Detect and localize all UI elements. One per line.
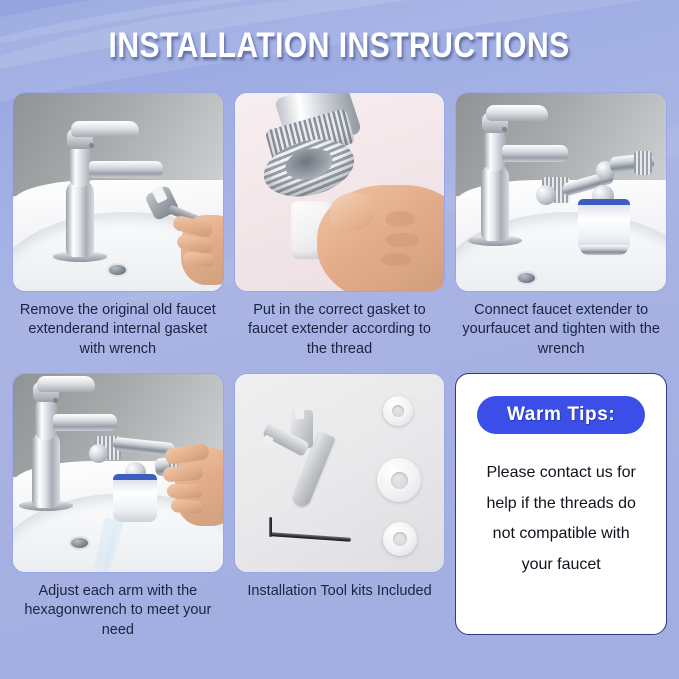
tool-kit-photo — [234, 373, 446, 573]
step-caption-2: Put in the correct gasket to faucet exte… — [234, 301, 446, 363]
title-container: INSTALLATION INSTRUCTIONS — [0, 0, 679, 92]
tips-line-4: your faucet — [486, 550, 635, 581]
infographic-page: INSTALLATION INSTRUCTIONS — [0, 0, 679, 679]
tips-line-3: not compatible with — [486, 519, 635, 550]
step-card-3: Connect faucet extender to yourfaucet an… — [455, 92, 667, 363]
adjusting-arm-photo — [12, 373, 224, 573]
faucet-with-wrench-photo — [12, 92, 224, 292]
warm-tips-badge: Warm Tips: — [477, 396, 645, 434]
hex-key-shape — [263, 514, 351, 544]
warm-tips-text: Please contact us for help if the thread… — [486, 458, 635, 581]
step-card-5: Installation Tool kits Included — [234, 373, 446, 644]
y-wrench-shape — [261, 402, 351, 494]
gasket-and-thread-photo — [234, 92, 446, 292]
step-caption-1: Remove the original old faucet extendera… — [12, 301, 224, 363]
tips-line-1: Please contact us for — [486, 458, 635, 489]
step-caption-3: Connect faucet extender to yourfaucet an… — [455, 301, 667, 363]
step-caption-4: Adjust each arm with the hexagonwrench t… — [12, 582, 224, 644]
step-card-2: Put in the correct gasket to faucet exte… — [234, 92, 446, 363]
warm-tips-card: Warm Tips: Please contact us for help if… — [455, 373, 667, 644]
step-card-4: Adjust each arm with the hexagonwrench t… — [12, 373, 224, 644]
step-card-1: Remove the original old faucet extendera… — [12, 92, 224, 363]
steps-grid: Remove the original old faucet extendera… — [0, 92, 679, 644]
extender-attached-photo — [455, 92, 667, 292]
tips-line-2: help if the threads do — [486, 489, 635, 520]
page-title: INSTALLATION INSTRUCTIONS — [109, 26, 570, 66]
step-caption-5: Installation Tool kits Included — [234, 582, 446, 644]
